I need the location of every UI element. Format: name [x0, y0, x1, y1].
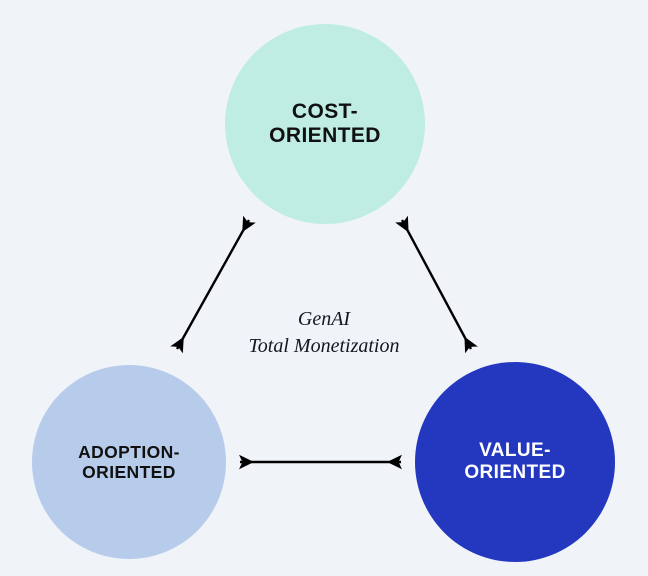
node-cost-oriented-label: COST- ORIENTED	[269, 100, 381, 149]
node-adoption-oriented-label: ADOPTION- ORIENTED	[78, 442, 180, 483]
diagram-canvas: COST- ORIENTED ADOPTION- ORIENTED VALUE-…	[0, 0, 648, 576]
node-cost-oriented: COST- ORIENTED	[225, 24, 425, 224]
node-adoption-oriented: ADOPTION- ORIENTED	[32, 365, 226, 559]
node-value-oriented-label: VALUE- ORIENTED	[464, 440, 565, 484]
node-value-oriented: VALUE- ORIENTED	[415, 362, 615, 562]
center-caption-line-1: GenAI	[224, 306, 424, 333]
center-caption: GenAI Total Monetization	[224, 306, 424, 360]
center-caption-line-2: Total Monetization	[224, 333, 424, 360]
